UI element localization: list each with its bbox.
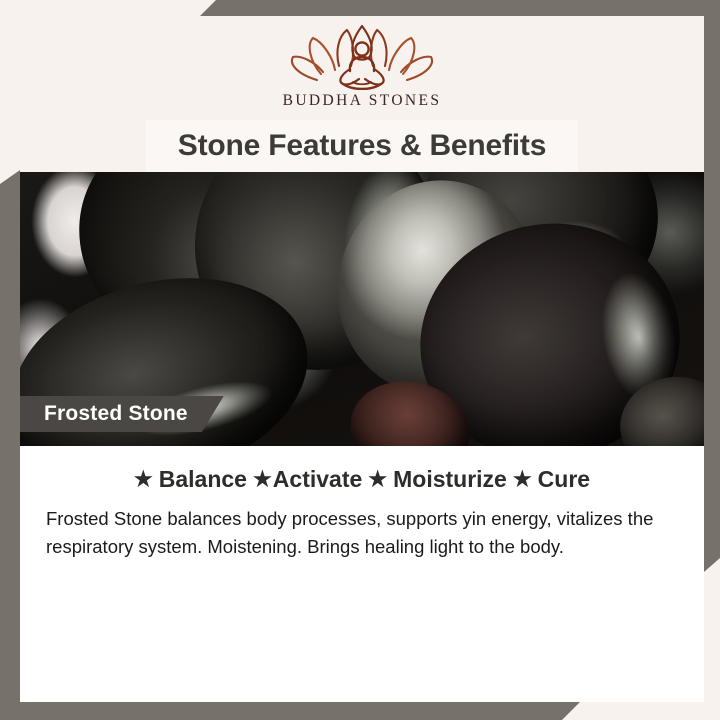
stone-photo: Frosted Stone [20, 172, 704, 446]
page-title: Stone Features & Benefits [178, 129, 546, 163]
benefit-label: Balance [159, 468, 247, 491]
brand-name: BUDDHA STONES [283, 92, 442, 110]
benefit-label: Moisturize [393, 468, 507, 491]
frame-band-right [704, 0, 720, 572]
benefit-item-moisturize: ★ Moisturize [368, 468, 507, 491]
frame-band-bottom [0, 702, 580, 720]
title-banner: Stone Features & Benefits [146, 120, 578, 172]
product-feature-poster: BUDDHA STONES Stone Features & Benefits … [0, 0, 720, 720]
benefit-item-activate: ★ Activate [253, 468, 362, 491]
benefit-label: Cure [538, 468, 590, 491]
benefit-item-balance: ★ Balance [134, 468, 247, 491]
stone-description: Frosted Stone balances body processes, s… [34, 505, 690, 561]
photo-caption-chip: Frosted Stone [20, 396, 224, 432]
content-body: ★ Balance ★ Activate ★ Moisturize ★ Cure… [20, 446, 704, 702]
benefit-label: Activate [273, 468, 362, 491]
star-icon: ★ [134, 469, 153, 490]
frame-band-left [0, 170, 20, 720]
star-icon: ★ [368, 469, 387, 490]
star-icon: ★ [513, 469, 532, 490]
benefits-list: ★ Balance ★ Activate ★ Moisturize ★ Cure [34, 468, 690, 491]
frame-band-top [200, 0, 720, 16]
brand-header: BUDDHA STONES [20, 16, 704, 120]
star-icon: ★ [253, 469, 272, 490]
photo-caption-label: Frosted Stone [44, 402, 188, 426]
poster-card: BUDDHA STONES Stone Features & Benefits … [20, 16, 704, 702]
lotus-meditation-icon [287, 24, 437, 90]
benefit-item-cure: ★ Cure [513, 468, 590, 491]
